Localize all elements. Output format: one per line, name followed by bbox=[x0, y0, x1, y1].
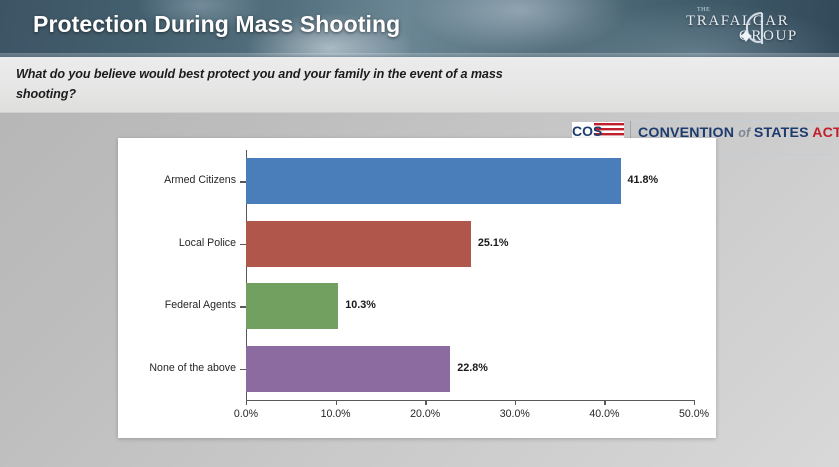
y-axis-category-label: Armed Citizens bbox=[94, 174, 236, 186]
x-axis-tick-label: 40.0% bbox=[574, 408, 634, 420]
y-axis-category-label: Federal Agents bbox=[94, 299, 236, 311]
page-title: Protection During Mass Shooting bbox=[33, 11, 400, 38]
y-axis-tick bbox=[240, 181, 246, 182]
y-axis-tick bbox=[240, 244, 246, 245]
x-axis-tick bbox=[425, 400, 426, 405]
bar-value-label: 22.8% bbox=[457, 362, 488, 374]
svg-text:COS: COS bbox=[572, 123, 602, 139]
y-axis-category-label: Local Police bbox=[94, 237, 236, 249]
x-axis-tick bbox=[694, 400, 695, 405]
question-bar: What do you believe would best protect y… bbox=[0, 57, 839, 113]
x-axis-tick bbox=[515, 400, 516, 405]
trafalgar-group-logo: THE TRAFALGAR GROUP bbox=[677, 6, 827, 52]
bar-none-of-the-above bbox=[246, 346, 450, 392]
bar-local-police bbox=[246, 221, 471, 267]
bar-value-label: 25.1% bbox=[478, 237, 509, 249]
x-axis-tick-label: 30.0% bbox=[485, 408, 545, 420]
y-axis-tick bbox=[240, 306, 246, 307]
trafalgar-compass-star-icon bbox=[732, 10, 774, 50]
bar-value-label: 10.3% bbox=[345, 299, 376, 311]
x-axis-tick-label: 10.0% bbox=[306, 408, 366, 420]
cos-word-of: of bbox=[738, 126, 754, 140]
survey-question-text: What do you believe would best protect y… bbox=[16, 65, 552, 104]
bar-armed-citizens bbox=[246, 158, 621, 204]
x-axis-line bbox=[246, 400, 694, 401]
x-axis-tick bbox=[336, 400, 337, 405]
cos-rule-top bbox=[634, 120, 832, 121]
x-axis-tick-label: 0.0% bbox=[216, 408, 276, 420]
cos-word-action: ACTION bbox=[812, 125, 839, 141]
x-axis-tick bbox=[246, 400, 247, 405]
cos-word-states: STATES bbox=[754, 125, 812, 141]
x-axis-tick-label: 20.0% bbox=[395, 408, 455, 420]
bar-value-label: 41.8% bbox=[628, 174, 659, 186]
bar-federal-agents bbox=[246, 283, 338, 329]
slide-canvas: Protection During Mass Shooting THE TRAF… bbox=[0, 0, 839, 467]
y-axis-category-label: None of the above bbox=[94, 362, 236, 374]
x-axis-tick-label: 50.0% bbox=[664, 408, 724, 420]
y-axis-tick bbox=[240, 369, 246, 370]
bar-chart: 0.0%10.0%20.0%30.0%40.0%50.0%41.8%Armed … bbox=[118, 138, 716, 438]
slide-header: Protection During Mass Shooting THE TRAF… bbox=[0, 0, 839, 57]
chart-panel: 0.0%10.0%20.0%30.0%40.0%50.0%41.8%Armed … bbox=[118, 138, 716, 438]
x-axis-tick bbox=[604, 400, 605, 405]
